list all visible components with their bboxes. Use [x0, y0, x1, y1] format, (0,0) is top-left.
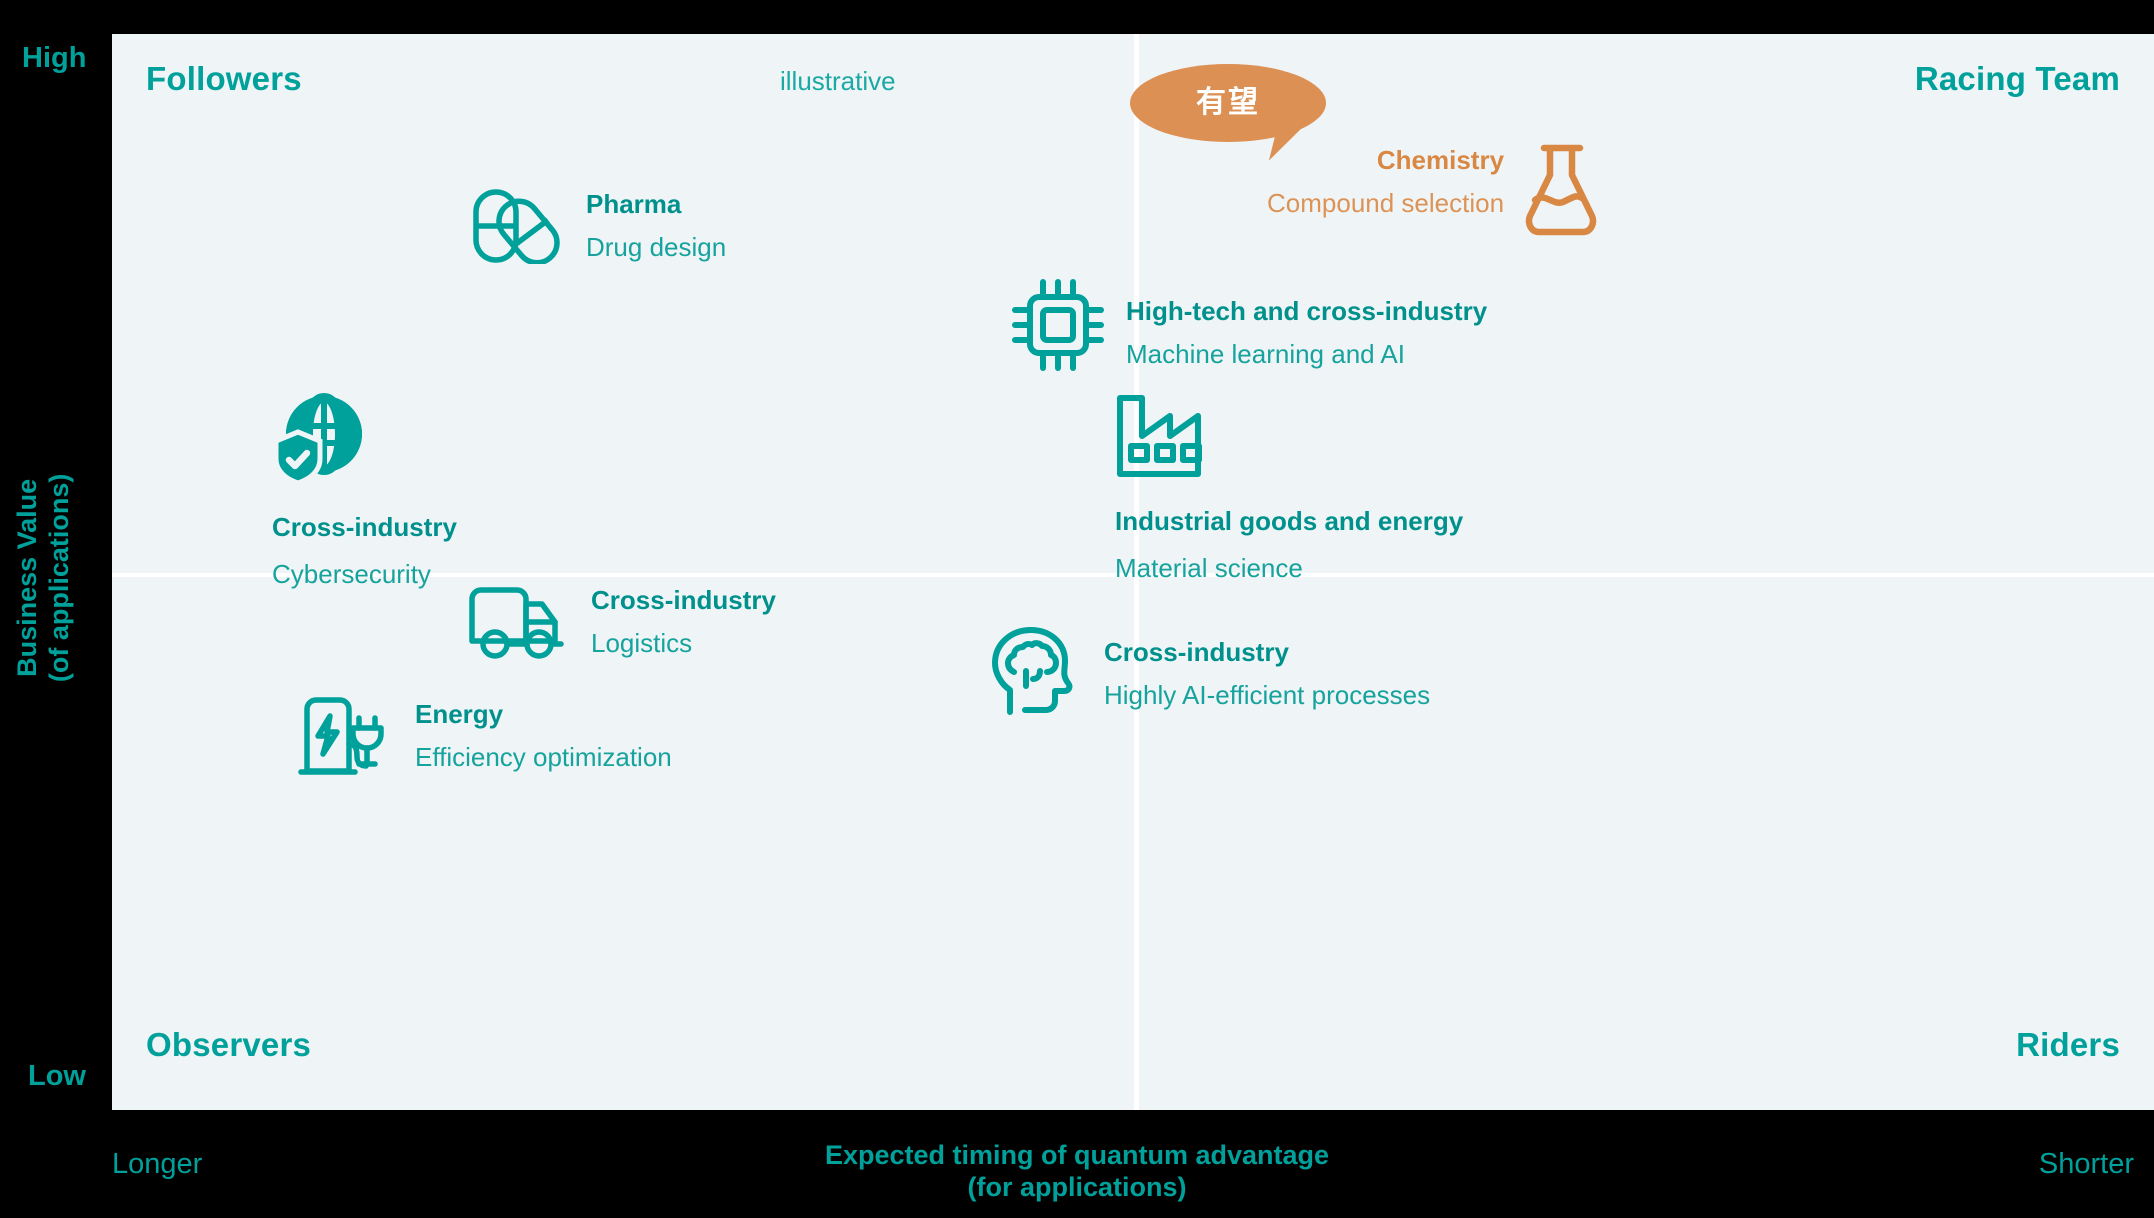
data-point-subtitle: Efficiency optimization — [415, 743, 672, 772]
data-point-title: Chemistry — [1377, 146, 1504, 175]
data-point-title: Cross-industry — [591, 586, 776, 615]
illustrative-note: illustrative — [780, 66, 896, 97]
y-axis-title: Business Value (of applications) — [12, 408, 76, 748]
y-axis-low-label: Low — [28, 1060, 86, 1093]
head-brain-icon — [990, 626, 1082, 721]
callout-text: 有望 — [1196, 88, 1260, 118]
data-point-industrial-goods: Industrial goods and energy Material sci… — [1115, 392, 1463, 582]
quadrant-chart-plot-area: Followers Racing Team Observers Riders i… — [112, 34, 2154, 1110]
truck-icon — [467, 582, 567, 665]
callout-speech-bubble: 有望 — [1130, 64, 1326, 142]
data-point-title: Pharma — [586, 190, 726, 219]
flask-icon — [1522, 142, 1600, 243]
data-point-subtitle: Drug design — [586, 233, 726, 262]
data-point-chemistry: Chemistry Compound selection — [1267, 142, 1600, 243]
data-point-title: Cross-industry — [1104, 638, 1430, 667]
x-axis-title-line1: Expected timing of quantum advantage — [0, 1139, 2154, 1171]
data-point-title: Cross-industry — [272, 513, 457, 542]
data-point-subtitle: Compound selection — [1267, 189, 1504, 218]
x-axis-title: Expected timing of quantum advantage (fo… — [0, 1139, 2154, 1204]
data-point-title: High-tech and cross-industry — [1126, 297, 1487, 326]
data-point-cybersecurity: Cross-industry Cybersecurity — [272, 392, 457, 588]
globe-shield-icon — [272, 392, 368, 489]
quadrant-label-followers: Followers — [146, 60, 302, 98]
data-point-subtitle: Logistics — [591, 629, 776, 658]
factory-icon — [1115, 392, 1211, 483]
quadrant-label-racing-team: Racing Team — [1915, 60, 2120, 98]
y-axis-high-label: High — [22, 42, 86, 75]
data-point-logistics: Cross-industry Logistics — [467, 582, 776, 665]
data-point-pharma: Pharma Drug design — [472, 184, 726, 269]
pills-icon — [472, 184, 560, 269]
data-point-subtitle: Material science — [1115, 554, 1463, 583]
data-point-energy: Energy Efficiency optimization — [297, 694, 672, 783]
data-point-high-tech: High-tech and cross-industry Machine lea… — [1012, 279, 1487, 376]
data-point-subtitle: Cybersecurity — [272, 560, 457, 589]
x-axis-title-line2: (for applications) — [0, 1171, 2154, 1203]
data-point-title: Energy — [415, 700, 672, 729]
cpu-chip-icon — [1012, 279, 1104, 376]
quadrant-label-observers: Observers — [146, 1026, 311, 1064]
quadrant-label-riders: Riders — [2016, 1026, 2120, 1064]
data-point-ai-processes: Cross-industry Highly AI-efficient proce… — [990, 626, 1430, 721]
ev-charger-icon — [297, 694, 393, 783]
y-axis-title-line1: Business Value — [12, 408, 44, 748]
y-axis-title-line2: (of applications) — [44, 408, 76, 748]
data-point-subtitle: Machine learning and AI — [1126, 340, 1487, 369]
data-point-title: Industrial goods and energy — [1115, 507, 1463, 536]
data-point-subtitle: Highly AI-efficient processes — [1104, 681, 1430, 710]
